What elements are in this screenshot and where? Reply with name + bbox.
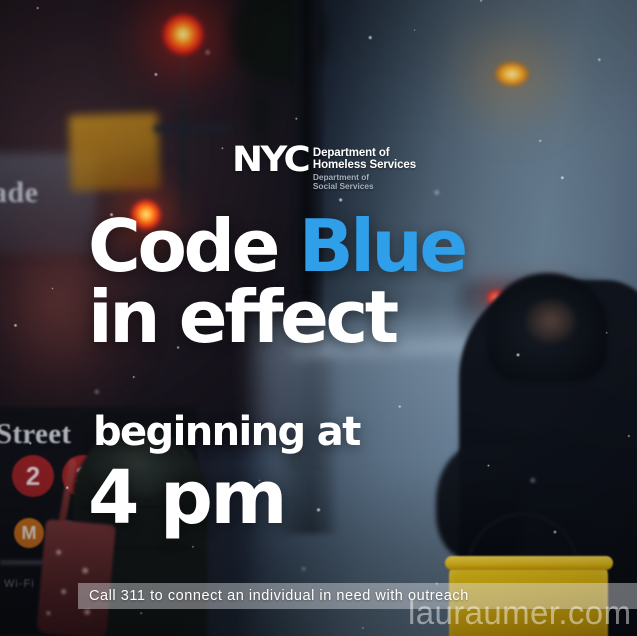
headline-line-2: in effect <box>88 280 465 355</box>
headline-line-1: Code Blue <box>88 209 465 284</box>
agency-primary-name: Department of Homeless Services <box>313 147 416 172</box>
nyc-agency-lockup: NYC Department of Homeless Services Depa… <box>232 145 416 192</box>
subheadline-beginning-at: beginning at <box>93 410 360 454</box>
caption-text: Call 311 to connect an individual in nee… <box>89 588 469 604</box>
headline-block: Code Blue in effect <box>88 209 465 355</box>
poster-content: NYC Department of Homeless Services Depa… <box>0 0 637 636</box>
agency-secondary-name: Department of Social Services <box>313 173 416 192</box>
agency-names: Department of Homeless Services Departme… <box>313 145 416 192</box>
nyc-wordmark-logo: NYC <box>232 145 308 175</box>
caption-band: Call 311 to connect an individual in nee… <box>78 583 637 609</box>
start-time-value: 4 pm <box>88 459 285 537</box>
code-blue-poster: ade Street 2 3 M R Wi-Fi <box>0 0 637 636</box>
